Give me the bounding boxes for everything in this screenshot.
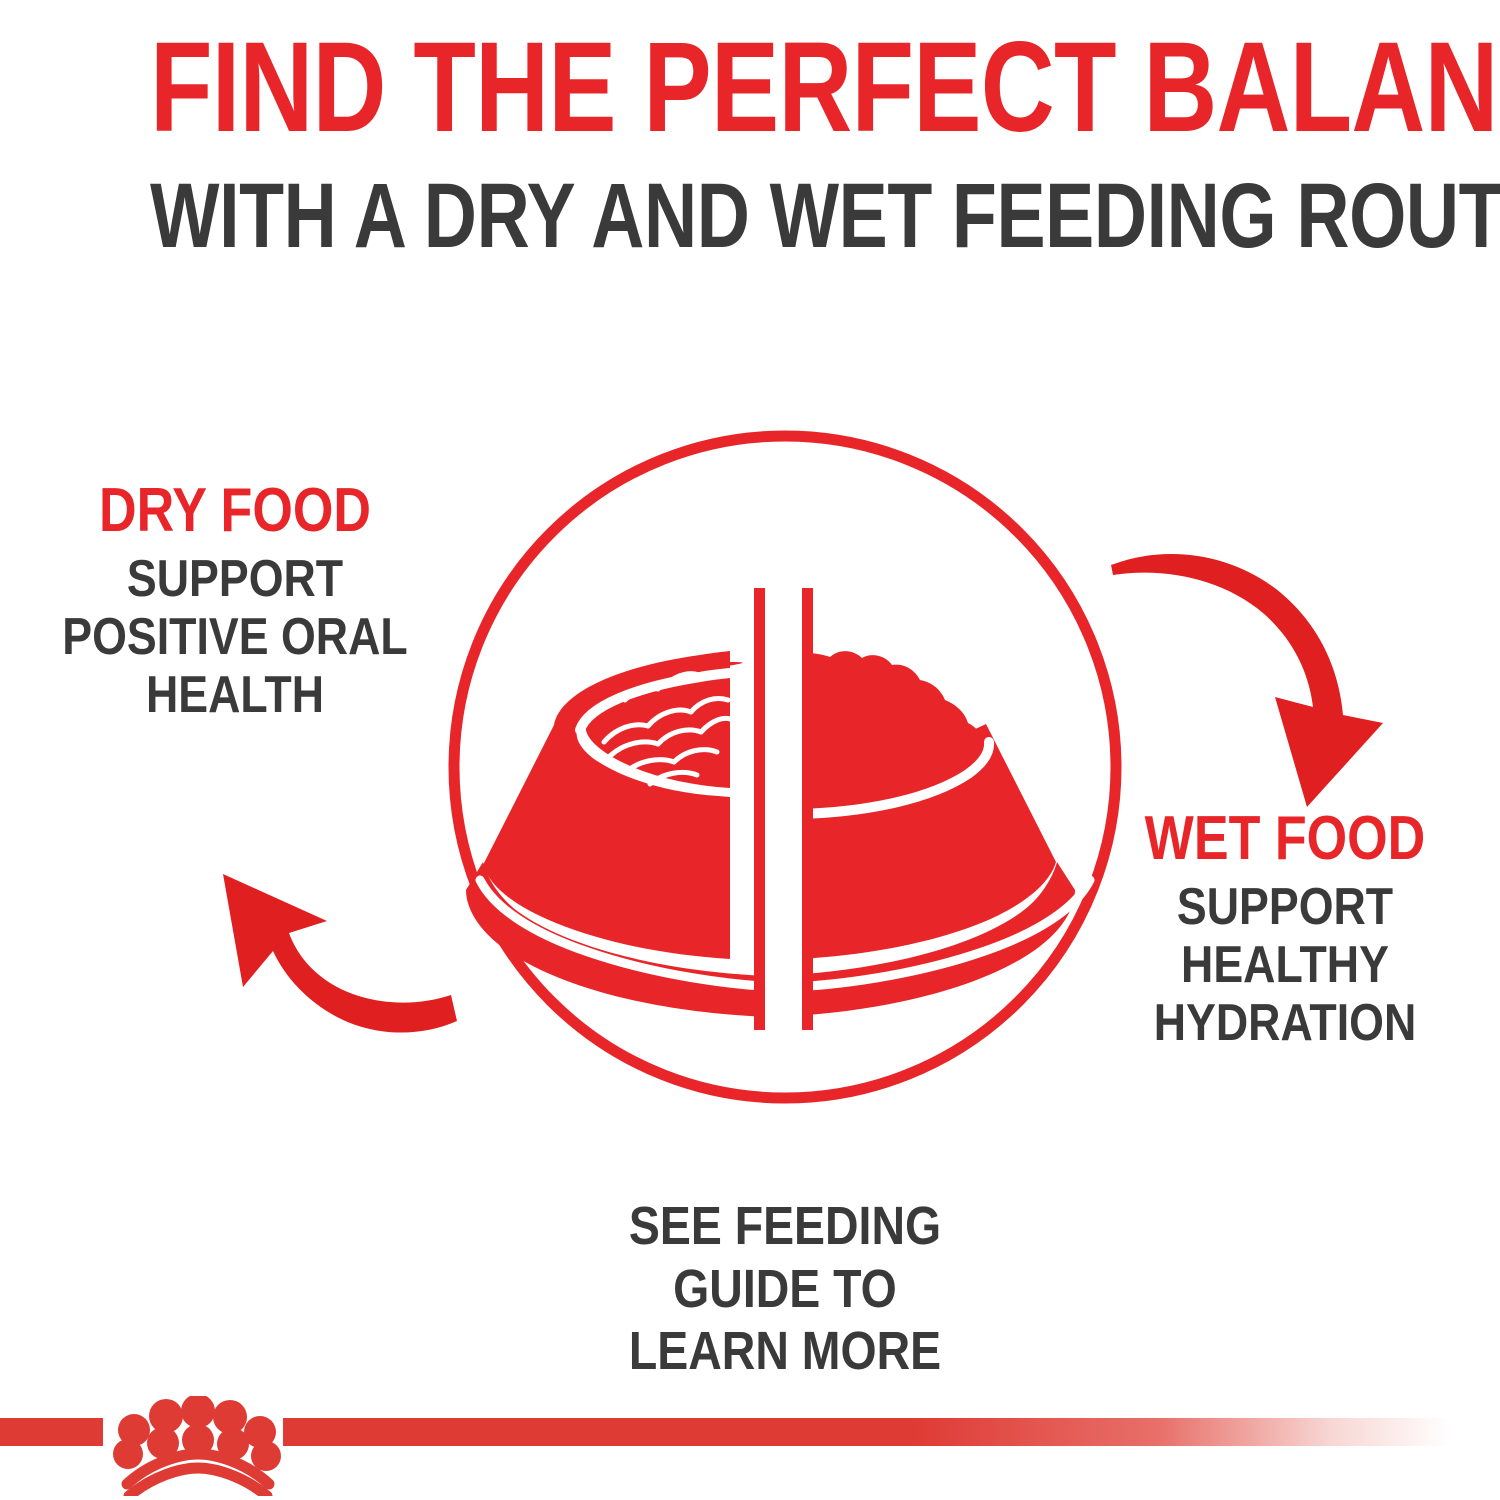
page-subtitle: WITH A DRY AND WET FEEDING ROUTINE: [150, 170, 1350, 262]
wet-food-description: SUPPORT HEALTHY HYDRATION: [1104, 878, 1465, 1053]
footer-bar-right: [283, 1418, 1500, 1446]
page-title: FIND THE PERFECT BALANCE: [150, 24, 1350, 152]
royal-canin-crown-logo: [103, 1396, 285, 1496]
title-block: FIND THE PERFECT BALANCE WITH A DRY AND …: [0, 24, 1500, 262]
wet-food-description-line: SUPPORT HEALTHY: [1104, 878, 1465, 994]
curved-arrow-up-left-icon: [185, 775, 485, 1065]
wet-food-description-line: HYDRATION: [1104, 994, 1465, 1052]
footer: [0, 1418, 1500, 1500]
footer-bar-left: [0, 1418, 103, 1446]
bottom-caption-line: LEARN MORE: [527, 1320, 1043, 1383]
bowl-right-wet: [800, 651, 1056, 959]
divider-gap: [765, 588, 802, 1030]
crown-logo-icon: [103, 1396, 285, 1496]
bottom-caption-line: GUIDE TO: [527, 1258, 1043, 1321]
arrow-left-container: [185, 775, 485, 1065]
curved-arrow-down-right-icon: [1105, 545, 1415, 835]
dry-food-description-line: SUPPORT: [50, 550, 420, 608]
dry-food-description-line: HEALTH: [50, 666, 420, 724]
dry-food-category: DRY FOOD: [54, 480, 415, 542]
dry-food-description: SUPPORT POSITIVE ORAL HEALTH: [50, 550, 420, 725]
dry-food-label-group: DRY FOOD SUPPORT POSITIVE ORAL HEALTH: [20, 480, 450, 725]
bottom-caption-group: SEE FEEDING GUIDE TO LEARN MORE: [485, 1195, 1085, 1383]
bottom-caption-line: SEE FEEDING: [527, 1195, 1043, 1258]
split-pet-food-bowl-icon: [420, 410, 1150, 1140]
arrow-right-container: [1105, 545, 1415, 835]
poster-root: FIND THE PERFECT BALANCE WITH A DRY AND …: [0, 0, 1500, 1500]
dry-food-description-line: POSITIVE ORAL: [50, 608, 420, 666]
split-bowl-graphic: [420, 410, 1150, 1140]
bowl-left-dry: [483, 651, 743, 959]
